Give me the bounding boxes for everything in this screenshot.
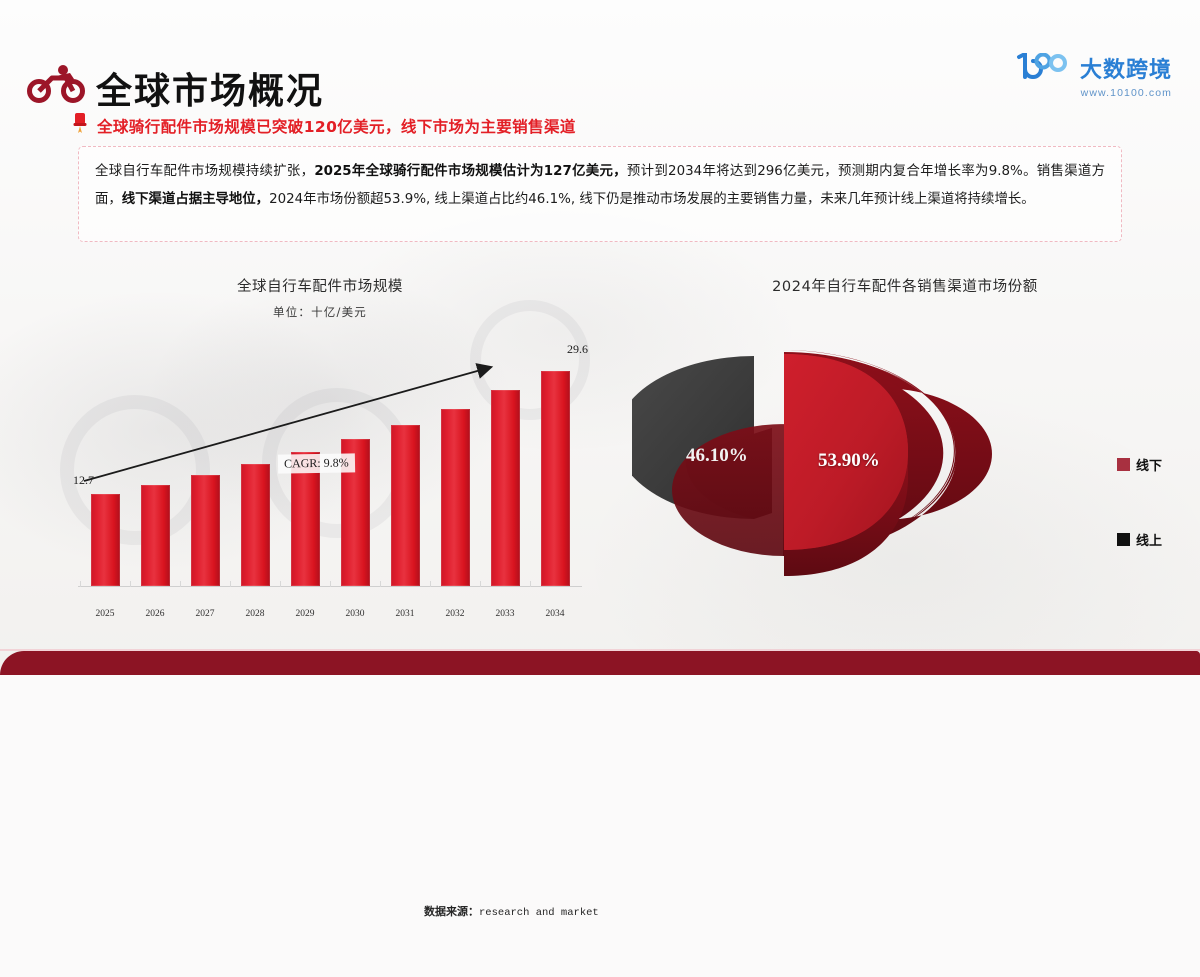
body-line2-c: 2024年市场份额超53.9%, 线上渠道占比约46.1%, 线下仍是推动市场发… [269, 192, 1035, 207]
bar-chart: 202512.720262027202820292030203120322033… [20, 336, 620, 626]
bar-2027 [191, 475, 220, 586]
summary-text-card: 全球自行车配件市场规模持续扩张，2025年全球骑行配件市场规模估计为127亿美元… [78, 146, 1122, 242]
pie-chart: 46.10% 53.90% 线下 线上 [620, 320, 1190, 620]
x-axis-label-2034: 2034 [525, 609, 585, 619]
bar-2026 [141, 485, 170, 586]
axis-tick [80, 581, 81, 587]
legend-item-offline[interactable]: 线下 [1117, 455, 1162, 474]
bar-2033 [491, 390, 520, 586]
brand-name: 大数跨境 [1080, 52, 1172, 84]
pie-chart-panel: 2024年自行车配件各销售渠道市场份额 [620, 275, 1190, 620]
bar-chart-title: 全球自行车配件市场规模 [20, 275, 620, 296]
axis-tick [480, 581, 481, 587]
brand-logo[interactable]: 大数跨境 www.10100.com [1011, 52, 1172, 99]
pie-chart-legend: 线下 线上 [1117, 455, 1162, 605]
bar-2028 [241, 464, 270, 586]
section-subtitle-text: 全球骑行配件市场规模已突破120亿美元，线下市场为主要销售渠道 [97, 115, 576, 137]
bar-chart-subtitle: 单位：十亿/美元 [20, 304, 620, 320]
pushpin-icon [72, 112, 88, 139]
data-label-2034: 29.6 [567, 342, 588, 357]
axis-tick [280, 581, 281, 587]
legend-label-offline: 线下 [1136, 455, 1162, 474]
body-line1-c: 预计到2034年将达到296亿美元，预测期内复合年增长率为9.8%。 [627, 164, 1037, 179]
axis-tick [530, 581, 531, 587]
brand-url: www.10100.com [1011, 87, 1172, 99]
axis-tick [180, 581, 181, 587]
legend-item-online[interactable]: 线上 [1117, 530, 1162, 549]
slide-header: 全球市场概况 大数跨境 www.10100.com [0, 26, 1200, 90]
body-line1-b: 2025年全球骑行配件市场规模估计为127亿美元， [314, 164, 627, 179]
summary-paragraph: 全球自行车配件市场规模持续扩张，2025年全球骑行配件市场规模估计为127亿美元… [95, 158, 1105, 214]
axis-tick [330, 581, 331, 587]
page-title: 全球市场概况 [96, 62, 324, 114]
legend-swatch-online [1117, 533, 1130, 546]
cagr-annotation: CAGR: 9.8% [278, 453, 355, 473]
bar-chart-source: 数据来源：research and market [424, 903, 599, 919]
bar-chart-panel: 全球自行车配件市场规模 单位：十亿/美元 202512.720262027202… [20, 275, 620, 626]
pie-slice-label-online: 46.10% [686, 445, 748, 467]
pie-slice-label-offline: 53.90% [818, 450, 880, 472]
bar-chart-source-value: research and market [479, 907, 599, 919]
bar-chart-source-label: 数据来源： [424, 905, 479, 918]
logo-mark-icon [1011, 53, 1073, 84]
axis-tick [380, 581, 381, 587]
pie-chart-title: 2024年自行车配件各销售渠道市场份额 [620, 275, 1190, 296]
slide: 全球市场概况 大数跨境 www.10100.com [0, 0, 1200, 675]
axis-tick [430, 581, 431, 587]
body-line1-a: 全球自行车配件市场规模持续扩张， [95, 164, 314, 179]
bar-2034 [541, 371, 570, 586]
body-line2-b: 线下渠道占据主导地位， [122, 192, 269, 207]
bar-2031 [391, 425, 420, 586]
legend-label-online: 线上 [1136, 530, 1162, 549]
legend-swatch-offline [1117, 458, 1130, 471]
axis-tick [130, 581, 131, 587]
section-subtitle: 全球骑行配件市场规模已突破120亿美元，线下市场为主要销售渠道 [72, 112, 576, 139]
bicycle-icon [26, 64, 88, 109]
axis-tick [230, 581, 231, 587]
footer-bar [0, 651, 1200, 675]
data-label-2025: 12.7 [73, 473, 94, 488]
bar-2025 [91, 494, 120, 586]
bar-2032 [441, 409, 470, 586]
